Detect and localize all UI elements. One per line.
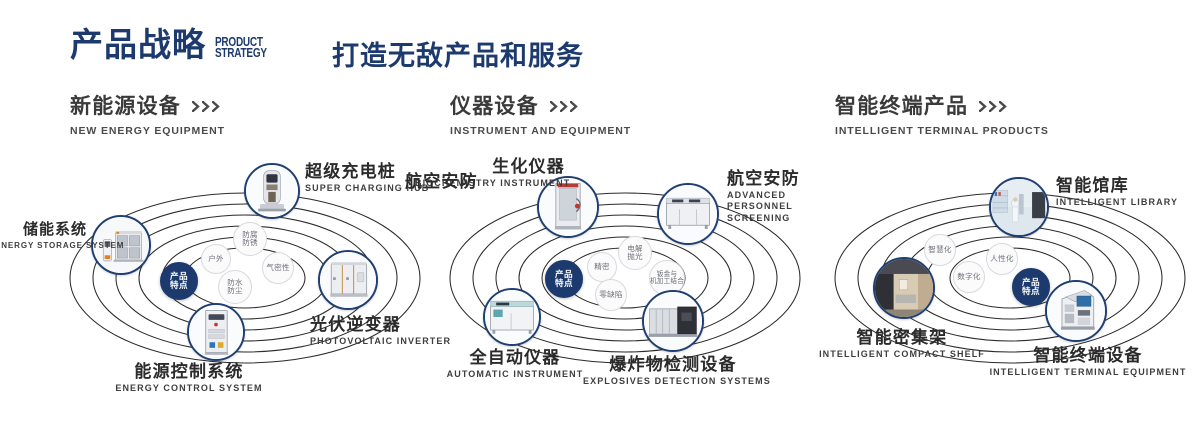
node-caption-automatic-instrument: 全自动仪器 AUTOMATIC INSTRUMENT — [420, 348, 610, 380]
feature-bubble[interactable]: 防水 防尘 — [218, 270, 252, 304]
page-header: 产品战略 PRODUCT STRATEGY — [70, 28, 280, 61]
chevron-right-icon — [979, 101, 1008, 112]
node-caption-terminal-equipment: 智能终端设备 INTELLIGENT TERMINAL EQUIPMENT — [988, 346, 1188, 378]
control-system-photo — [189, 305, 243, 359]
explosives-detection-photo — [644, 292, 702, 350]
node-caption-explosives-detection: 爆炸物检测设备 EXPLOSIVES DETECTION SYSTEMS — [583, 355, 763, 387]
section-title-cn: 智能终端产品 — [835, 96, 1049, 117]
feature-bubble[interactable]: 精密 — [587, 252, 617, 282]
section-heading-new-energy: 新能源设备 NEW ENERGY EQUIPMENT — [70, 96, 225, 137]
feature-bubble[interactable]: 防腐 防锈 — [233, 222, 267, 256]
feature-bubble[interactable]: 电解 抛光 — [618, 236, 652, 270]
node-caption-aviation-security-left: 航空安防 — [405, 172, 478, 191]
section-heading-instrument: 仪器设备 INSTRUMENT AND EQUIPMENT — [450, 96, 631, 137]
compact-shelf-photo — [875, 259, 933, 317]
product-node-automatic-instrument[interactable] — [483, 288, 541, 346]
product-node-compact-shelf[interactable] — [873, 257, 935, 319]
section-heading-intelligent-terminal: 智能终端产品 INTELLIGENT TERMINAL PRODUCTS — [835, 96, 1049, 137]
feature-bubble-core[interactable]: 产品 特点 — [545, 260, 583, 298]
node-caption-photovoltaic-inverter: 光伏逆变器 PHOTOVOLTAIC INVERTER — [310, 315, 451, 347]
page-title-en: PRODUCT STRATEGY — [215, 37, 267, 59]
feature-bubble-core[interactable]: 产品 特点 — [1012, 268, 1050, 306]
product-node-terminal-equipment[interactable] — [1045, 280, 1107, 342]
screening-photo — [659, 185, 717, 243]
chevron-right-icon — [550, 101, 579, 112]
product-node-personnel-screening[interactable] — [657, 183, 719, 245]
feature-bubble[interactable]: 人性化 — [986, 243, 1018, 275]
feature-bubble-core[interactable]: 产品 特点 — [160, 262, 198, 300]
chevron-right-icon — [192, 101, 221, 112]
orbit-group-intelligent-terminal: 产品 特点 智慧化 数字化 人性化 — [820, 160, 1200, 395]
inverter-photo — [320, 252, 376, 308]
terminal-equipment-photo — [1047, 282, 1105, 340]
product-node-photovoltaic-inverter[interactable] — [318, 250, 378, 310]
product-node-super-charging-hub[interactable] — [244, 163, 300, 219]
feature-bubble[interactable]: 户外 — [201, 244, 231, 274]
node-caption-intelligent-library: 智能馆库 INTELLIGENT LIBRARY — [1056, 176, 1178, 208]
page-title: 产品战略 — [70, 28, 206, 61]
orbit-group-instrument: 产品 特点 精密 电解 抛光 零缺陷 钣金与 机加工结合 — [435, 160, 815, 395]
section-title-cn: 仪器设备 — [450, 96, 631, 117]
feature-bubble[interactable]: 气密性 — [262, 252, 294, 284]
node-caption-energy-storage: 储能系统 ENERGY STORAGE SYSTEM — [0, 222, 87, 251]
product-node-intelligent-library[interactable] — [989, 177, 1049, 237]
section-title-en: INTELLIGENT TERMINAL PRODUCTS — [835, 125, 1049, 137]
page-subtitle: 打造无敌产品和服务 — [332, 34, 584, 73]
section-title-en: INSTRUMENT AND EQUIPMENT — [450, 125, 631, 137]
automatic-instrument-photo — [485, 290, 539, 344]
product-node-explosives-detection[interactable] — [642, 290, 704, 352]
charging-hub-photo — [246, 165, 298, 217]
node-caption-energy-control-system: 能源控制系统 ENERGY CONTROL SYSTEM — [99, 362, 279, 394]
feature-bubble[interactable]: 数字化 — [953, 261, 985, 293]
section-title-en: NEW ENERGY EQUIPMENT — [70, 125, 225, 137]
library-photo — [991, 179, 1047, 235]
node-caption-personnel-screening: 航空安防 ADVANCED PERSONNEL SCREENING — [727, 169, 819, 224]
feature-bubble[interactable]: 零缺陷 — [595, 279, 627, 311]
product-node-energy-control-system[interactable] — [187, 303, 245, 361]
orbit-group-new-energy: 产品 特点 户外 防腐 防锈 防水 防尘 气密性 — [55, 160, 435, 395]
product-strategy-infographic: 产品战略 PRODUCT STRATEGY 打造无敌产品和服务 新能源设备 NE… — [0, 0, 1200, 422]
node-caption-compact-shelf: 智能密集架 INTELLIGENT COMPACT SHELF — [812, 328, 992, 360]
section-title-cn: 新能源设备 — [70, 96, 225, 117]
